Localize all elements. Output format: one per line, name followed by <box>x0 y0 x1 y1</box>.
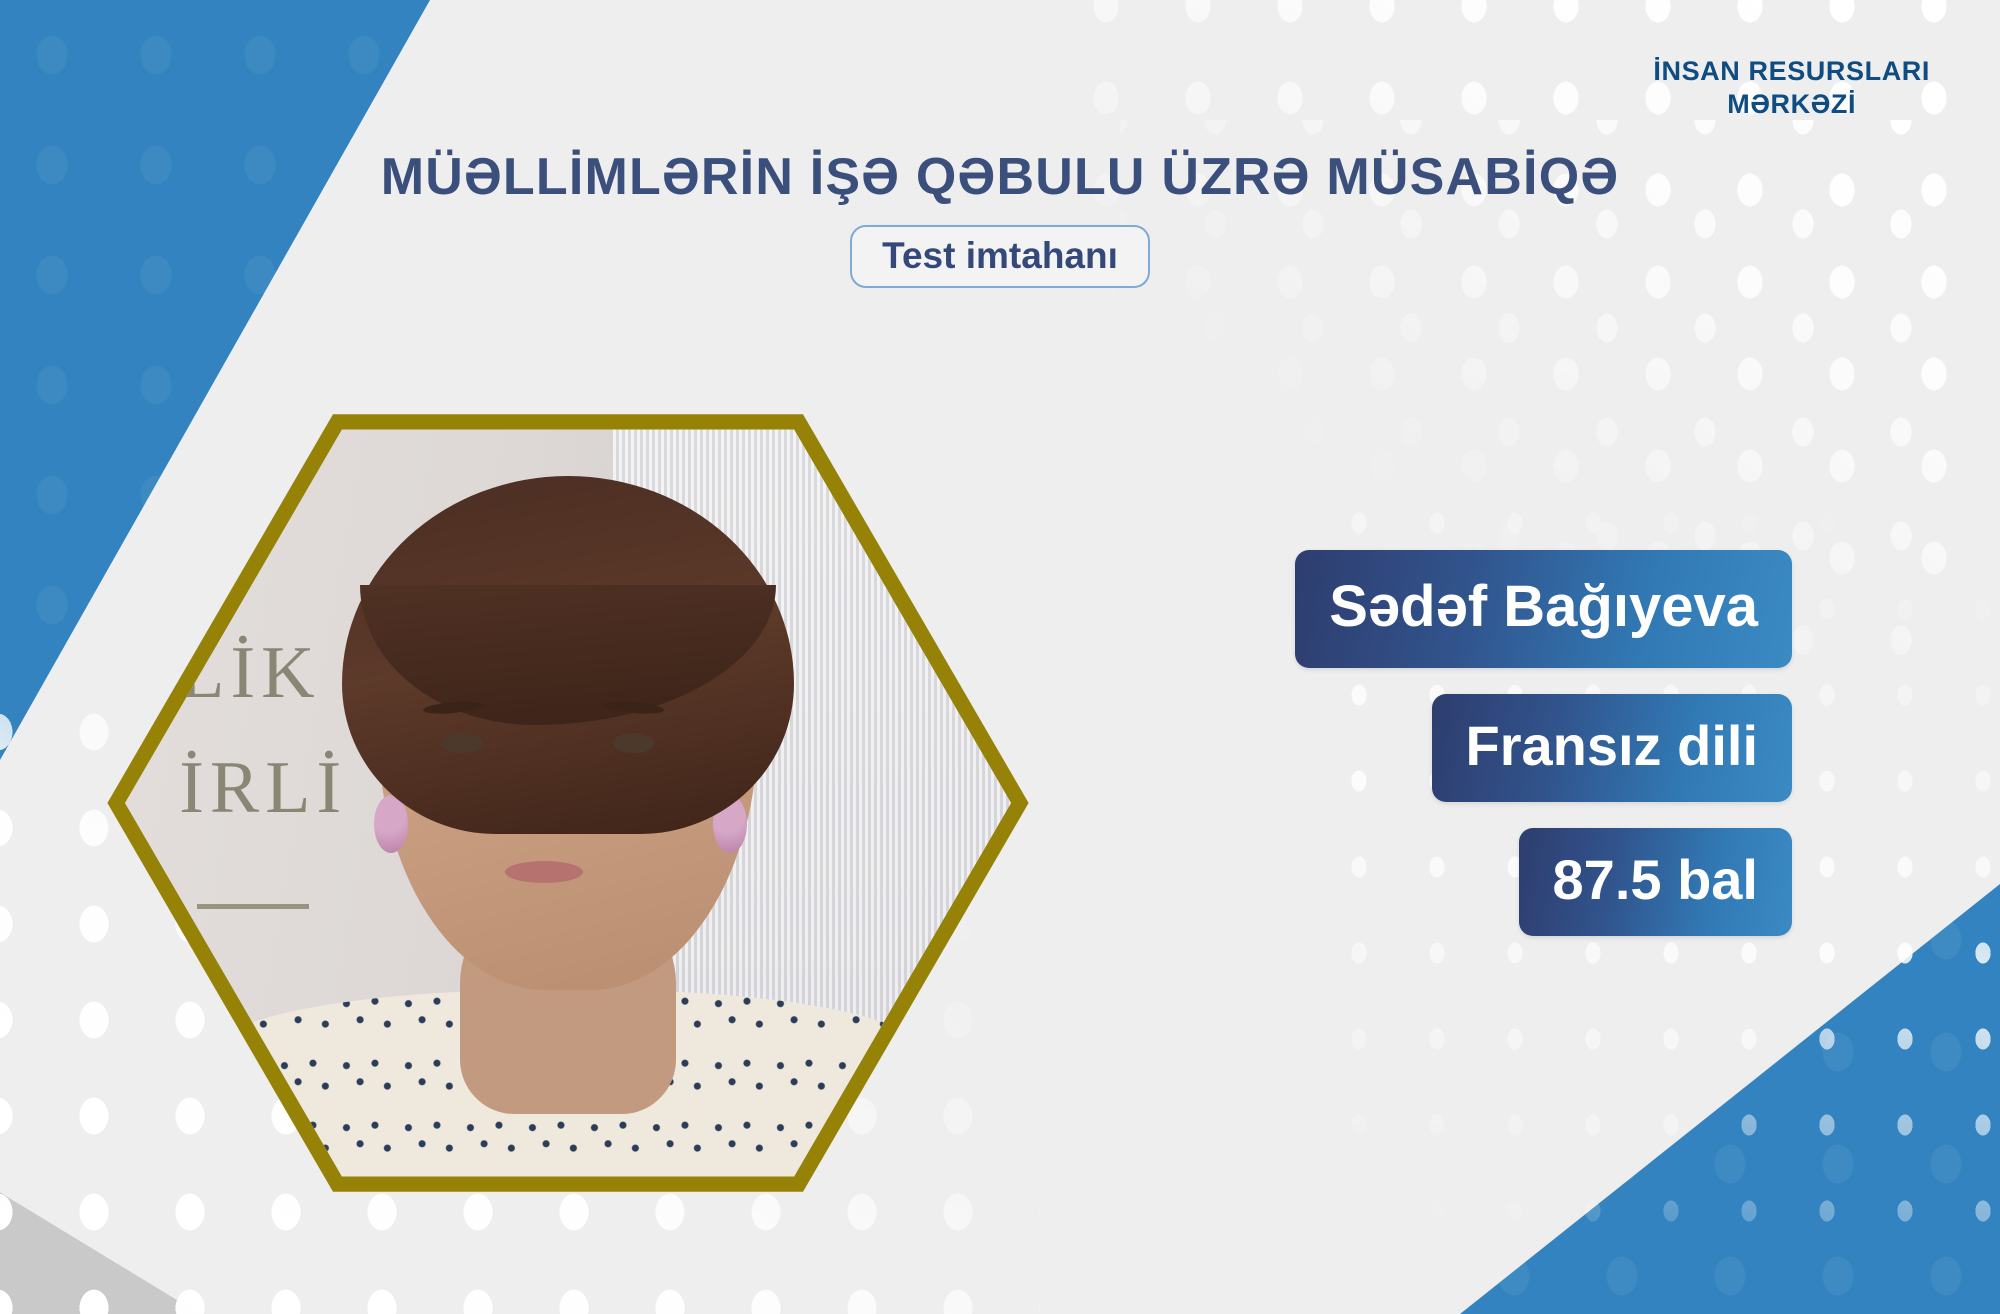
photo-wall-text-line-2: İRLİ <box>179 731 347 846</box>
candidate-photo: LİK İRLİ <box>116 414 1020 1192</box>
logo-line-2: MƏRKƏZİ <box>1653 88 1930 121</box>
candidate-subject-badge: Fransız dili <box>1432 694 1793 802</box>
photo-person-eye-right <box>613 733 655 753</box>
exam-type-badge: Test imtahanı <box>850 225 1150 288</box>
logo-line-1: İNSAN RESURSLARI <box>1653 55 1930 88</box>
page-title: MÜƏLLİMLƏRİN İŞƏ QƏBULU ÜZRƏ MÜSABİQƏ <box>0 150 2000 205</box>
organization-logo: İNSAN RESURSLARI MƏRKƏZİ <box>1653 55 1930 122</box>
header-block: MÜƏLLİMLƏRİN İŞƏ QƏBULU ÜZRƏ MÜSABİQƏ Te… <box>0 150 2000 288</box>
result-card: İNSAN RESURSLARI MƏRKƏZİ MÜƏLLİMLƏRİN İŞ… <box>0 0 2000 1314</box>
photo-wall-text-line-1: LİK <box>179 616 347 731</box>
candidate-name-badge: Sədəf Bağıyeva <box>1295 550 1792 668</box>
candidate-photo-frame: LİK İRLİ <box>98 398 1038 1208</box>
candidate-info-panel: Sədəf Bağıyeva Fransız dili 87.5 bal <box>1295 550 1792 936</box>
photo-wall-rule <box>197 904 309 909</box>
candidate-score-badge: 87.5 bal <box>1519 828 1792 936</box>
